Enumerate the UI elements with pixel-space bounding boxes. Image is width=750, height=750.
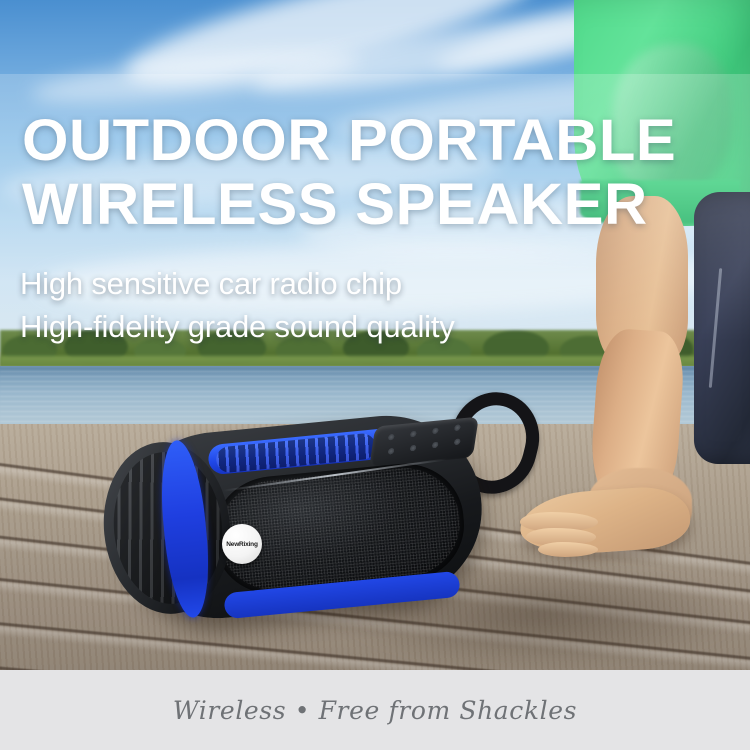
bluetooth-speaker-product	[104, 404, 496, 636]
subheadline-line-1: High sensitive car radio chip	[20, 268, 402, 299]
brand-logo-badge: NewRixing	[222, 524, 262, 564]
headline-line-1: OUTDOOR PORTABLE	[22, 112, 750, 170]
photo-scene: NewRixing OUTDOOR PORTABLE WIRELESS SPEA…	[0, 0, 750, 670]
subheadline-line-2: High-fidelity grade sound quality	[20, 311, 455, 342]
brand-logo-text: NewRixing	[226, 541, 257, 548]
headline-line-2: WIRELESS SPEAKER	[22, 176, 750, 234]
footer-band: Wireless • Free from Shackles	[0, 670, 750, 750]
footer-tagline: Wireless • Free from Shackles	[173, 696, 577, 725]
product-banner-ad: NewRixing OUTDOOR PORTABLE WIRELESS SPEA…	[0, 0, 750, 750]
